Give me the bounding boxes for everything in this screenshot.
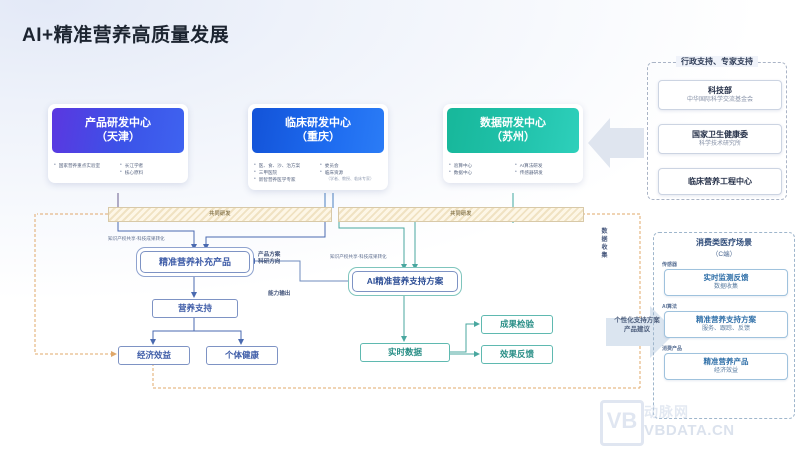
node-individual-health[interactable]: 个体健康: [206, 346, 278, 365]
collab-band-right: 共同研发: [338, 207, 584, 222]
node-ai-nutrition-plan[interactable]: AI精准营养支持方案: [352, 271, 458, 292]
org-card-product-name: 产品研发中心: [85, 117, 151, 129]
org-card-clinical-col1: •医、食、沙、治方案 •三甲医院 •新智营养医学专家: [254, 162, 316, 183]
consumer-group-label-sensor: 传感器: [662, 261, 677, 268]
list-item: •核心原料: [120, 169, 182, 176]
bullet-icon: •: [254, 169, 256, 176]
edge-label-plan-direction: 产品方案 科研方向: [258, 252, 280, 266]
org-card-clinical-location: （重庆）: [256, 130, 380, 144]
org-card-product-location: （天津）: [56, 130, 180, 144]
org-card-data[interactable]: 数据研发中心 （苏州） •验算中心 •数据中心 •AI算法研发 •传感器研发: [443, 104, 583, 183]
support-item-sub: 中华国际科学交流基金会: [661, 96, 779, 105]
consumer-scenario-panel: 消费类医疗场景 （C端） 传感器 实时监测反馈 数据收集 AI算法 精准营养支持…: [653, 232, 795, 419]
list-item: •委员会: [320, 162, 382, 169]
consumer-group-label-ai: AI算法: [662, 303, 677, 310]
bullet-icon: •: [254, 162, 256, 169]
list-item: •长江学者: [120, 162, 182, 169]
edge-label-ip-left: 知识产权共享-科技成果转化: [108, 235, 165, 242]
consumer-group-label-product: 消费产品: [662, 345, 682, 352]
list-item: •临床资源: [320, 169, 382, 176]
node-realtime-data[interactable]: 实时数据: [360, 343, 450, 362]
org-card-data-header: 数据研发中心 （苏州）: [447, 108, 579, 153]
support-item-nhc[interactable]: 国家卫生健康委 科学技术研究所: [658, 124, 782, 154]
support-panel-title: 行政支持、专家支持: [676, 56, 758, 67]
node-economic-benefit[interactable]: 经济效益: [118, 346, 190, 365]
consumer-panel-subtitle: （C端）: [654, 248, 794, 258]
consumer-panel-title: 消费类医疗场景: [654, 237, 794, 248]
org-card-clinical-name: 临床研发中心: [285, 117, 351, 129]
node-precision-nutrition-product[interactable]: 精准营养补充产品: [140, 251, 250, 273]
bullet-icon: •: [449, 169, 451, 176]
support-item-sub: 科学技术研究所: [661, 140, 779, 149]
bullet-icon: •: [120, 162, 122, 169]
bullet-icon: •: [515, 162, 517, 169]
org-card-data-col2: •AI算法研发 •传感器研发: [515, 162, 577, 176]
edge-label-capability: 能力输出: [268, 291, 290, 298]
org-card-product-header: 产品研发中心 （天津）: [52, 108, 184, 153]
org-card-product-col2: •长江学者 •核心原料: [120, 162, 182, 176]
org-card-clinical-col2-note: （学者、教授、临床专家）: [320, 176, 382, 182]
consumer-box-sub: 服务、跟踪、反馈: [667, 325, 785, 334]
support-item-title: 科技部: [661, 85, 779, 96]
org-card-data-name: 数据研发中心: [480, 117, 546, 129]
org-card-product-body: •国家营养重点实验室 •长江学者 •核心原料: [48, 157, 188, 183]
bullet-icon: •: [54, 162, 56, 169]
watermark: VB 动脉网 VBDATA.CN: [600, 398, 796, 448]
org-card-clinical-header: 临床研发中心 （重庆）: [252, 108, 384, 153]
consumer-box-sub: 数据收集: [667, 283, 785, 292]
consumer-box-title: 精准营养支持方案: [667, 315, 785, 325]
list-item: •三甲医院: [254, 169, 316, 176]
org-card-clinical-body: •医、食、沙、治方案 •三甲医院 •新智营养医学专家 •委员会 •临床资源 （学…: [248, 157, 388, 190]
watermark-cn-text: 动脉网: [644, 402, 689, 422]
watermark-url: VBDATA.CN: [644, 422, 735, 439]
list-item: •国家营养重点实验室: [54, 162, 116, 169]
org-card-clinical-col2: •委员会 •临床资源 （学者、教授、临床专家）: [320, 162, 382, 183]
slide-canvas: AI+精准营养高质量发展: [0, 0, 800, 451]
bullet-icon: •: [320, 162, 322, 169]
org-card-product[interactable]: 产品研发中心 （天津） •国家营养重点实验室 •长江学者 •核心原料: [48, 104, 188, 183]
support-panel: 行政支持、专家支持 科技部 中华国际科学交流基金会 国家卫生健康委 科学技术研究…: [647, 62, 787, 200]
list-item: •验算中心: [449, 162, 511, 169]
bullet-icon: •: [515, 169, 517, 176]
list-item: •传感器研发: [515, 169, 577, 176]
consumer-box-title: 实时监测反馈: [667, 273, 785, 283]
bullet-icon: •: [120, 169, 122, 176]
support-item-title: 国家卫生健康委: [661, 129, 779, 140]
list-item: •数据中心: [449, 169, 511, 176]
org-card-product-col1: •国家营养重点实验室: [54, 162, 116, 176]
support-item-most[interactable]: 科技部 中华国际科学交流基金会: [658, 80, 782, 110]
list-item: •AI算法研发: [515, 162, 577, 169]
bullet-icon: •: [449, 162, 451, 169]
collab-band-left: 共同研发: [108, 207, 332, 222]
collab-band-left-label: 共同研发: [109, 210, 331, 217]
consumer-box-monitoring[interactable]: 实时监测反馈 数据收集: [664, 269, 788, 296]
node-result-check[interactable]: 成果检验: [481, 315, 553, 334]
collab-band-right-label: 共同研发: [339, 210, 583, 217]
arrow-to-support-icon: [588, 118, 644, 168]
support-item-clinical-center[interactable]: 临床营养工程中心: [658, 168, 782, 195]
org-card-data-body: •验算中心 •数据中心 •AI算法研发 •传感器研发: [443, 157, 583, 183]
node-nutrition-support[interactable]: 营养支持: [152, 299, 238, 318]
org-card-data-location: （苏州）: [451, 130, 575, 144]
consumer-box-sub: 经济效益: [667, 367, 785, 376]
bullet-icon: •: [254, 176, 256, 183]
org-card-clinical[interactable]: 临床研发中心 （重庆） •医、食、沙、治方案 •三甲医院 •新智营养医学专家 •…: [248, 104, 388, 190]
consumer-box-title: 精准营养产品: [667, 357, 785, 367]
watermark-logo-icon: VB: [600, 400, 644, 446]
edge-label-data-collect: 数据收集: [600, 228, 609, 260]
consumer-box-ai-plan[interactable]: 精准营养支持方案 服务、跟踪、反馈: [664, 311, 788, 338]
org-card-data-col1: •验算中心 •数据中心: [449, 162, 511, 176]
list-item: •医、食、沙、治方案: [254, 162, 316, 169]
edge-label-ip-right: 知识产权共享-科技成果转化: [330, 253, 387, 260]
consumer-box-product[interactable]: 精准营养产品 经济效益: [664, 353, 788, 380]
bullet-icon: •: [320, 169, 322, 176]
node-effect-feedback[interactable]: 效果反馈: [481, 345, 553, 364]
list-item: •新智营养医学专家: [254, 176, 316, 183]
support-item-title: 临床营养工程中心: [661, 176, 779, 187]
